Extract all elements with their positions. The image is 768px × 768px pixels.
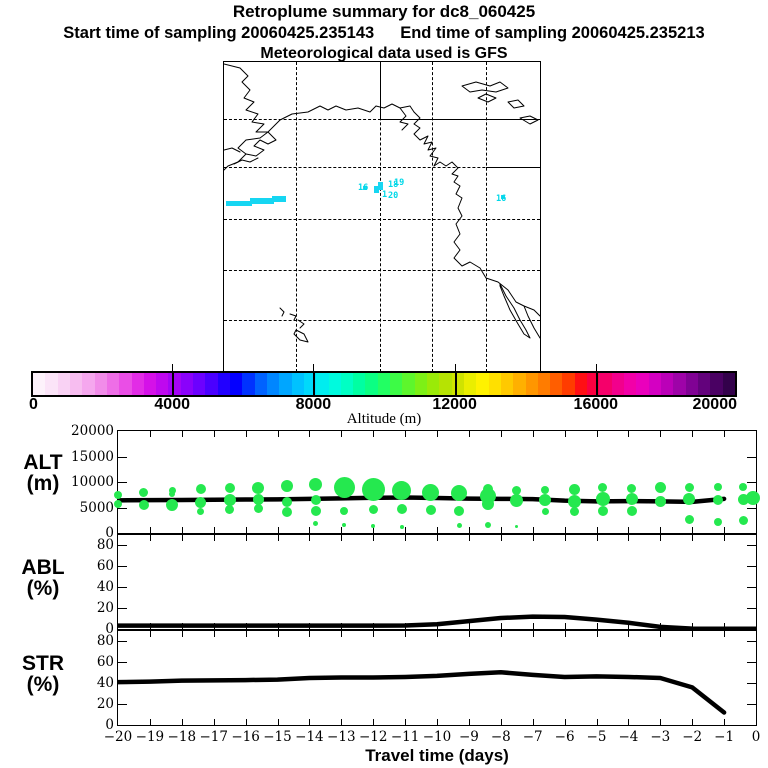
colorbar-segment xyxy=(686,373,698,395)
x-tick xyxy=(405,623,406,629)
alt-bubble xyxy=(225,483,235,493)
x-tick xyxy=(597,535,598,541)
x-tick xyxy=(692,719,693,725)
start-time-label: Start time of sampling 20060425.235143 xyxy=(63,24,374,42)
x-tick xyxy=(405,631,406,637)
retroplume-map: 16118192016 xyxy=(223,61,541,373)
x-tick-label: −2 xyxy=(682,729,702,745)
y-tick xyxy=(118,704,127,705)
colorbar-segment xyxy=(70,373,82,395)
colorbar-segment xyxy=(230,373,242,395)
colorbar-segment xyxy=(82,373,94,395)
x-tick xyxy=(278,623,279,629)
abl-panel xyxy=(117,534,757,630)
x-tick xyxy=(692,535,693,541)
colorbar-axis-title: Altitude (m) xyxy=(0,411,768,428)
y-tick xyxy=(747,457,756,458)
alt-bubble xyxy=(139,500,149,510)
y-tick xyxy=(118,482,127,483)
colorbar-segment xyxy=(341,373,353,395)
alt-bubble xyxy=(311,495,321,505)
x-tick xyxy=(533,631,534,637)
x-tick xyxy=(597,719,598,725)
x-tick xyxy=(660,623,661,629)
colorbar-segment xyxy=(624,373,636,395)
y-tick-label: 40 xyxy=(97,675,114,691)
sampling-time-line: Start time of sampling 20060425.235143En… xyxy=(0,24,768,43)
alt-bubble xyxy=(568,495,581,508)
x-tick-label: −6 xyxy=(555,729,575,745)
x-tick xyxy=(405,527,406,533)
colorbar-segment xyxy=(612,373,624,395)
alt-bubble xyxy=(225,505,234,514)
x-tick xyxy=(373,623,374,629)
y-tick xyxy=(118,683,127,684)
x-tick-label: −3 xyxy=(650,729,670,745)
alt-bubble xyxy=(334,477,355,498)
alt-bubble xyxy=(569,484,580,495)
map-day-label: 19 xyxy=(394,179,404,188)
x-tick xyxy=(533,535,534,541)
x-tick xyxy=(246,719,247,725)
str-panel xyxy=(117,630,757,726)
x-tick xyxy=(565,631,566,637)
colorbar-divider xyxy=(313,371,315,397)
x-tick-label: −10 xyxy=(423,729,452,745)
map-border-vertical xyxy=(380,62,381,119)
colorbar-segment xyxy=(538,373,550,395)
x-tick xyxy=(660,631,661,637)
x-tick xyxy=(214,623,215,629)
x-tick xyxy=(469,535,470,541)
alt-bubble xyxy=(282,507,292,517)
x-tick xyxy=(597,623,598,629)
x-tick xyxy=(309,623,310,629)
alt-bubble xyxy=(281,480,293,492)
colorbar-segment xyxy=(353,373,365,395)
y-tick xyxy=(118,641,127,642)
x-tick-label: −12 xyxy=(359,729,388,745)
colorbar-segment xyxy=(365,373,377,395)
map-border-horizontal xyxy=(486,167,540,168)
x-tick-label: −13 xyxy=(327,729,356,745)
colorbar-segment xyxy=(562,373,574,395)
colorbar-segment xyxy=(156,373,168,395)
x-tick-label: −18 xyxy=(168,729,197,745)
y-tick xyxy=(747,587,756,588)
colorbar-segment xyxy=(181,373,193,395)
x-tick xyxy=(309,719,310,725)
x-tick xyxy=(278,631,279,637)
colorbar-segment xyxy=(402,373,414,395)
x-tick xyxy=(214,527,215,533)
alt-bubble xyxy=(655,496,666,507)
y-tick xyxy=(747,545,756,546)
x-tick xyxy=(692,431,693,437)
x-tick xyxy=(341,535,342,541)
y-tick-label: 20000 xyxy=(71,423,114,439)
x-tick xyxy=(724,535,725,541)
x-tick xyxy=(405,431,406,437)
colorbar-segment xyxy=(390,373,402,395)
page-title: Retroplume summary for dc8_060425 xyxy=(0,2,768,22)
alt-bubble xyxy=(362,478,385,501)
x-tick xyxy=(214,719,215,725)
x-tick xyxy=(628,535,629,541)
colorbar-divider xyxy=(596,371,598,397)
x-tick xyxy=(150,535,151,541)
alt-bubble xyxy=(746,491,760,505)
x-tick-label: −8 xyxy=(491,729,511,745)
alt-bubble xyxy=(598,483,607,492)
colorbar-segment xyxy=(439,373,451,395)
x-tick xyxy=(660,719,661,725)
colorbar-segment xyxy=(550,373,562,395)
x-tick xyxy=(341,527,342,533)
alt-bubble xyxy=(626,493,638,505)
trajectory-segment xyxy=(378,182,383,190)
x-tick xyxy=(660,527,661,533)
y-tick xyxy=(747,662,756,663)
alt-bubble xyxy=(282,497,292,507)
x-tick-label: −17 xyxy=(199,729,228,745)
y-tick-label: 60 xyxy=(97,558,114,574)
colorbar-segment xyxy=(599,373,611,395)
x-tick xyxy=(246,535,247,541)
x-tick xyxy=(469,527,470,533)
alt-bubble xyxy=(426,505,436,515)
colorbar-segment xyxy=(723,373,735,395)
x-tick-label: −16 xyxy=(231,729,260,745)
x-tick xyxy=(501,431,502,437)
x-tick xyxy=(214,431,215,437)
x-tick xyxy=(150,527,151,533)
colorbar-segment xyxy=(710,373,722,395)
trajectory-segment xyxy=(250,198,274,204)
alt-bubble xyxy=(254,504,263,513)
abl-row-label: ABL(%) xyxy=(4,557,82,600)
x-tick xyxy=(724,719,725,725)
y-tick xyxy=(118,457,127,458)
map-gridline-horizontal xyxy=(224,270,540,271)
x-tick-label: −11 xyxy=(391,729,420,745)
x-tick xyxy=(692,527,693,533)
map-day-label: 16 xyxy=(358,184,368,193)
x-tick xyxy=(565,431,566,437)
x-tick xyxy=(597,631,598,637)
colorbar-segment xyxy=(476,373,488,395)
trajectory-segment xyxy=(272,196,286,202)
x-tick xyxy=(150,719,151,725)
alt-bubble xyxy=(655,482,666,493)
x-tick xyxy=(341,431,342,437)
x-tick xyxy=(182,623,183,629)
colorbar-segment xyxy=(673,373,685,395)
x-tick xyxy=(533,719,534,725)
colorbar-segment xyxy=(378,373,390,395)
alt-bubble xyxy=(400,525,404,529)
x-tick xyxy=(150,623,151,629)
x-tick xyxy=(246,431,247,437)
colorbar-divider xyxy=(455,371,457,397)
colorbar-segment xyxy=(526,373,538,395)
alt-bubble xyxy=(598,506,608,516)
colorbar-segment xyxy=(415,373,427,395)
x-tick-label: −19 xyxy=(136,729,165,745)
y-tick-label: 80 xyxy=(97,633,114,649)
alt-bubble xyxy=(570,507,579,516)
x-tick xyxy=(246,623,247,629)
x-tick xyxy=(692,623,693,629)
x-tick xyxy=(565,535,566,541)
x-tick xyxy=(533,431,534,437)
x-tick xyxy=(628,431,629,437)
colorbar-segment xyxy=(107,373,119,395)
x-tick xyxy=(533,527,534,533)
colorbar-segment xyxy=(255,373,267,395)
x-tick xyxy=(405,535,406,541)
alt-bubble xyxy=(422,484,439,501)
y-tick xyxy=(118,545,127,546)
x-tick xyxy=(373,631,374,637)
x-tick xyxy=(373,719,374,725)
colorbar-segment xyxy=(513,373,525,395)
x-tick xyxy=(278,719,279,725)
x-tick xyxy=(469,623,470,629)
alt-bubble xyxy=(114,500,122,508)
map-day-label: 1 xyxy=(382,191,387,200)
end-time-label: End time of sampling 20060425.235213 xyxy=(400,24,705,42)
colorbar-segment xyxy=(636,373,648,395)
y-tick xyxy=(747,566,756,567)
x-tick xyxy=(501,623,502,629)
colorbar-tick xyxy=(455,364,456,371)
alt-bubble xyxy=(252,482,264,494)
x-tick xyxy=(182,527,183,533)
colorbar-segment xyxy=(452,373,464,395)
y-tick xyxy=(118,608,127,609)
colorbar-gradient xyxy=(31,371,737,397)
x-tick xyxy=(692,631,693,637)
y-tick-label: 80 xyxy=(97,537,114,553)
x-tick xyxy=(597,431,598,437)
x-tick xyxy=(182,535,183,541)
trajectory-segment xyxy=(226,201,252,206)
x-tick xyxy=(437,623,438,629)
x-tick-label: −14 xyxy=(295,729,324,745)
alt-bubble xyxy=(714,518,722,526)
alt-bubble xyxy=(311,506,321,516)
x-tick xyxy=(501,527,502,533)
y-tick xyxy=(747,683,756,684)
x-tick xyxy=(724,631,725,637)
x-tick xyxy=(724,431,725,437)
y-tick-label: 20 xyxy=(97,600,114,616)
colorbar-segment xyxy=(45,373,57,395)
x-tick xyxy=(565,719,566,725)
alt-bubble xyxy=(139,488,148,497)
map-gridline-vertical xyxy=(486,62,487,372)
x-tick xyxy=(373,431,374,437)
x-tick xyxy=(437,431,438,437)
x-tick-label: −15 xyxy=(263,729,292,745)
colorbar-segment xyxy=(292,373,304,395)
alt-bubble xyxy=(714,483,722,491)
y-tick-label: 20 xyxy=(97,696,114,712)
x-tick xyxy=(309,527,310,533)
x-tick-label: −7 xyxy=(523,729,543,745)
str-line xyxy=(118,631,756,725)
x-tick xyxy=(373,527,374,533)
x-tick xyxy=(278,535,279,541)
x-tick xyxy=(437,719,438,725)
x-tick-label: 0 xyxy=(752,729,761,745)
colorbar-segment xyxy=(279,373,291,395)
y-tick-label: 40 xyxy=(97,579,114,595)
y-tick xyxy=(747,508,756,509)
x-tick xyxy=(278,527,279,533)
colorbar-segment xyxy=(698,373,710,395)
map-gridline-horizontal xyxy=(224,320,540,321)
y-tick xyxy=(747,704,756,705)
colorbar-segment xyxy=(661,373,673,395)
map-day-label: 16 xyxy=(496,195,506,204)
retroplume-summary-figure: Retroplume summary for dc8_060425 Start … xyxy=(0,0,768,768)
colorbar-segment xyxy=(218,373,230,395)
x-tick xyxy=(660,535,661,541)
x-tick xyxy=(565,623,566,629)
colorbar-segment xyxy=(58,373,70,395)
y-tick-label: 60 xyxy=(97,654,114,670)
colorbar-segment xyxy=(168,373,180,395)
x-tick xyxy=(214,535,215,541)
x-tick xyxy=(309,631,310,637)
alt-bubble xyxy=(685,483,694,492)
alt-bubble xyxy=(542,508,549,515)
x-tick xyxy=(469,631,470,637)
colorbar-segment xyxy=(119,373,131,395)
x-tick-label: −20 xyxy=(104,729,133,745)
colorbar-tick xyxy=(172,364,173,371)
x-tick xyxy=(660,431,661,437)
x-tick xyxy=(437,527,438,533)
colorbar-segment xyxy=(316,373,328,395)
x-tick xyxy=(214,631,215,637)
alt-panel xyxy=(117,430,757,534)
colorbar-segment xyxy=(193,373,205,395)
x-tick xyxy=(309,535,310,541)
colorbar-segment xyxy=(464,373,476,395)
map-gridline-horizontal xyxy=(224,219,540,220)
colorbar-segment xyxy=(242,373,254,395)
x-tick xyxy=(150,631,151,637)
coastline-paths xyxy=(224,62,540,372)
alt-bubble xyxy=(627,506,637,516)
alt-bubble xyxy=(196,484,206,494)
x-tick xyxy=(341,719,342,725)
y-tick-label: 15000 xyxy=(71,449,114,465)
colorbar-segment xyxy=(95,373,107,395)
y-tick xyxy=(747,641,756,642)
x-tick xyxy=(182,719,183,725)
x-tick-label: −1 xyxy=(714,729,734,745)
x-tick xyxy=(565,527,566,533)
x-tick-label: −9 xyxy=(459,729,479,745)
y-tick-label: 5000 xyxy=(80,500,114,516)
abl-line xyxy=(118,535,756,629)
colorbar-segment xyxy=(267,373,279,395)
x-tick xyxy=(341,631,342,637)
x-tick xyxy=(628,631,629,637)
x-tick xyxy=(341,623,342,629)
x-tick-label: −5 xyxy=(587,729,607,745)
x-tick xyxy=(628,623,629,629)
x-axis-title: Travel time (days) xyxy=(117,746,757,766)
colorbar-segment xyxy=(575,373,587,395)
x-tick xyxy=(246,527,247,533)
x-tick xyxy=(309,431,310,437)
alt-bubble xyxy=(627,484,636,493)
x-tick xyxy=(501,631,502,637)
colorbar-segment xyxy=(329,373,341,395)
colorbar-segment xyxy=(33,373,45,395)
x-tick xyxy=(405,719,406,725)
y-tick xyxy=(747,608,756,609)
alt-bubble xyxy=(397,504,407,514)
x-tick xyxy=(278,431,279,437)
alt-bubble xyxy=(369,505,378,514)
colorbar-segment xyxy=(144,373,156,395)
x-tick xyxy=(597,527,598,533)
colorbar-tick xyxy=(313,364,314,371)
str-row-label: STR(%) xyxy=(4,653,82,696)
y-tick-label: 10000 xyxy=(71,474,114,490)
x-tick xyxy=(533,623,534,629)
map-day-label: 20 xyxy=(388,192,398,201)
altitude-colorbar xyxy=(31,371,737,397)
map-border-horizontal xyxy=(380,119,540,120)
alt-bubble xyxy=(685,515,694,524)
x-tick xyxy=(501,535,502,541)
alt-bubble xyxy=(451,485,467,501)
alt-bubble xyxy=(482,498,494,510)
colorbar-segment xyxy=(649,373,661,395)
colorbar-divider xyxy=(172,371,174,397)
y-tick xyxy=(118,587,127,588)
map-gridline-vertical xyxy=(432,62,433,372)
x-tick-label: −4 xyxy=(618,729,638,745)
x-tick xyxy=(724,527,725,533)
x-tick xyxy=(501,719,502,725)
x-tick xyxy=(469,431,470,437)
y-tick xyxy=(747,482,756,483)
x-tick xyxy=(724,623,725,629)
colorbar-segment xyxy=(427,373,439,395)
x-tick xyxy=(246,631,247,637)
x-tick xyxy=(437,535,438,541)
y-tick xyxy=(118,566,127,567)
x-tick xyxy=(628,527,629,533)
alt-bubble xyxy=(169,491,175,497)
colorbar-tick xyxy=(596,364,597,371)
colorbar-segment xyxy=(489,373,501,395)
y-tick xyxy=(118,662,127,663)
x-tick xyxy=(150,431,151,437)
x-tick xyxy=(469,719,470,725)
colorbar-segment xyxy=(205,373,217,395)
x-tick xyxy=(373,535,374,541)
alt-bubble xyxy=(739,516,748,525)
